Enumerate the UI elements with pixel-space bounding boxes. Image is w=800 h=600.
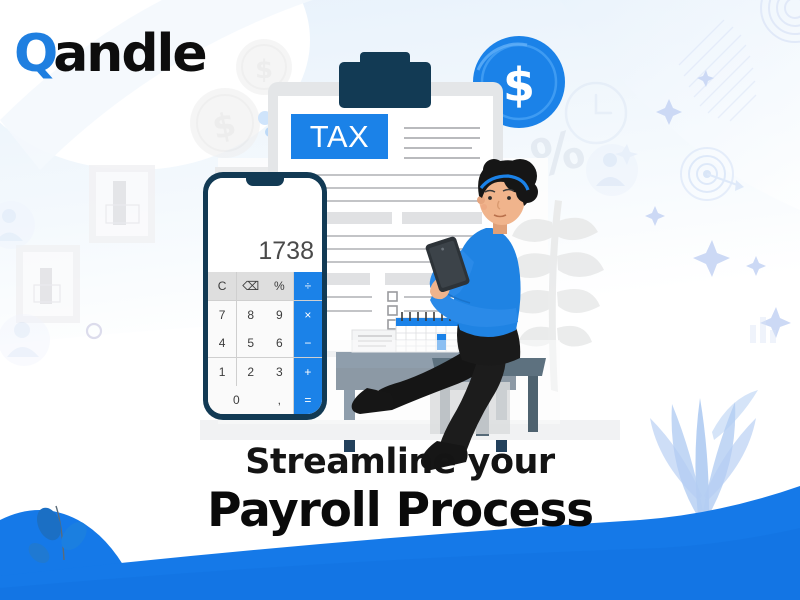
person-hair-bun-2 xyxy=(516,181,538,203)
chair-leg-back xyxy=(528,376,538,432)
calculator-key-[interactable]: + xyxy=(294,358,322,386)
phone-screen: 1738 C⌫%÷789×456−123+0,= xyxy=(208,178,322,414)
calculator-key-[interactable]: % xyxy=(265,272,293,300)
brand-logo[interactable]: Q andle xyxy=(14,28,206,80)
headline: Streamline your Payroll Process xyxy=(0,442,800,538)
person-badge-decor xyxy=(586,144,638,196)
calculator-key-[interactable]: = xyxy=(294,386,322,414)
person-badge-decor-3 xyxy=(0,314,50,366)
calculator-key-1[interactable]: 1 xyxy=(208,358,236,386)
headline-line-2: Payroll Process xyxy=(0,484,800,538)
eye-left xyxy=(488,196,492,200)
calculator-key-[interactable]: − xyxy=(294,329,322,357)
calculator-key-8[interactable]: 8 xyxy=(237,301,265,329)
calculator-key-[interactable]: ÷ xyxy=(294,272,322,300)
calculator-key-7[interactable]: 7 xyxy=(208,301,236,329)
eye-right xyxy=(507,196,511,200)
svg-text:$: $ xyxy=(255,55,273,85)
headline-line-1: Streamline your xyxy=(0,442,800,482)
cheek-blush xyxy=(481,204,487,210)
tax-badge-label: TAX xyxy=(310,119,370,155)
calculator-key-5[interactable]: 5 xyxy=(237,329,265,357)
calendar-header xyxy=(396,318,458,326)
calculator-key-[interactable]: , xyxy=(265,386,293,414)
calculator-key-[interactable]: × xyxy=(294,301,322,329)
calculator-key-9[interactable]: 9 xyxy=(265,301,293,329)
dollar-coin-faded-large: $ xyxy=(190,88,260,158)
calculator-key-C[interactable]: C xyxy=(208,272,236,300)
svg-text:$: $ xyxy=(503,58,535,112)
calculator-key-4[interactable]: 4 xyxy=(208,329,236,357)
calculator-key-[interactable]: ⌫ xyxy=(237,272,265,300)
tax-badge-label-wrap: TAX xyxy=(291,114,388,159)
calculator-key-0[interactable]: 0 xyxy=(208,386,265,414)
doc-block-2 xyxy=(402,212,482,224)
picture-frame-upper xyxy=(89,165,155,243)
calculator-key-3[interactable]: 3 xyxy=(265,358,293,386)
calculator-key-6[interactable]: 6 xyxy=(265,329,293,357)
banner-canvas: $ $ $ % xyxy=(0,0,800,600)
logo-wordmark: andle xyxy=(53,28,205,80)
calculator-keypad[interactable]: C⌫%÷789×456−123+0,= xyxy=(208,272,322,414)
phone-notch xyxy=(246,178,284,186)
calculator-key-2[interactable]: 2 xyxy=(237,358,265,386)
calculator-display: 1738 xyxy=(208,178,322,272)
clipboard-clip-top xyxy=(360,52,410,70)
picture-frame-lower xyxy=(16,245,80,323)
phone-calculator[interactable]: 1738 C⌫%÷789×456−123+0,= xyxy=(203,172,327,420)
logo-mark-q: Q xyxy=(14,28,57,80)
